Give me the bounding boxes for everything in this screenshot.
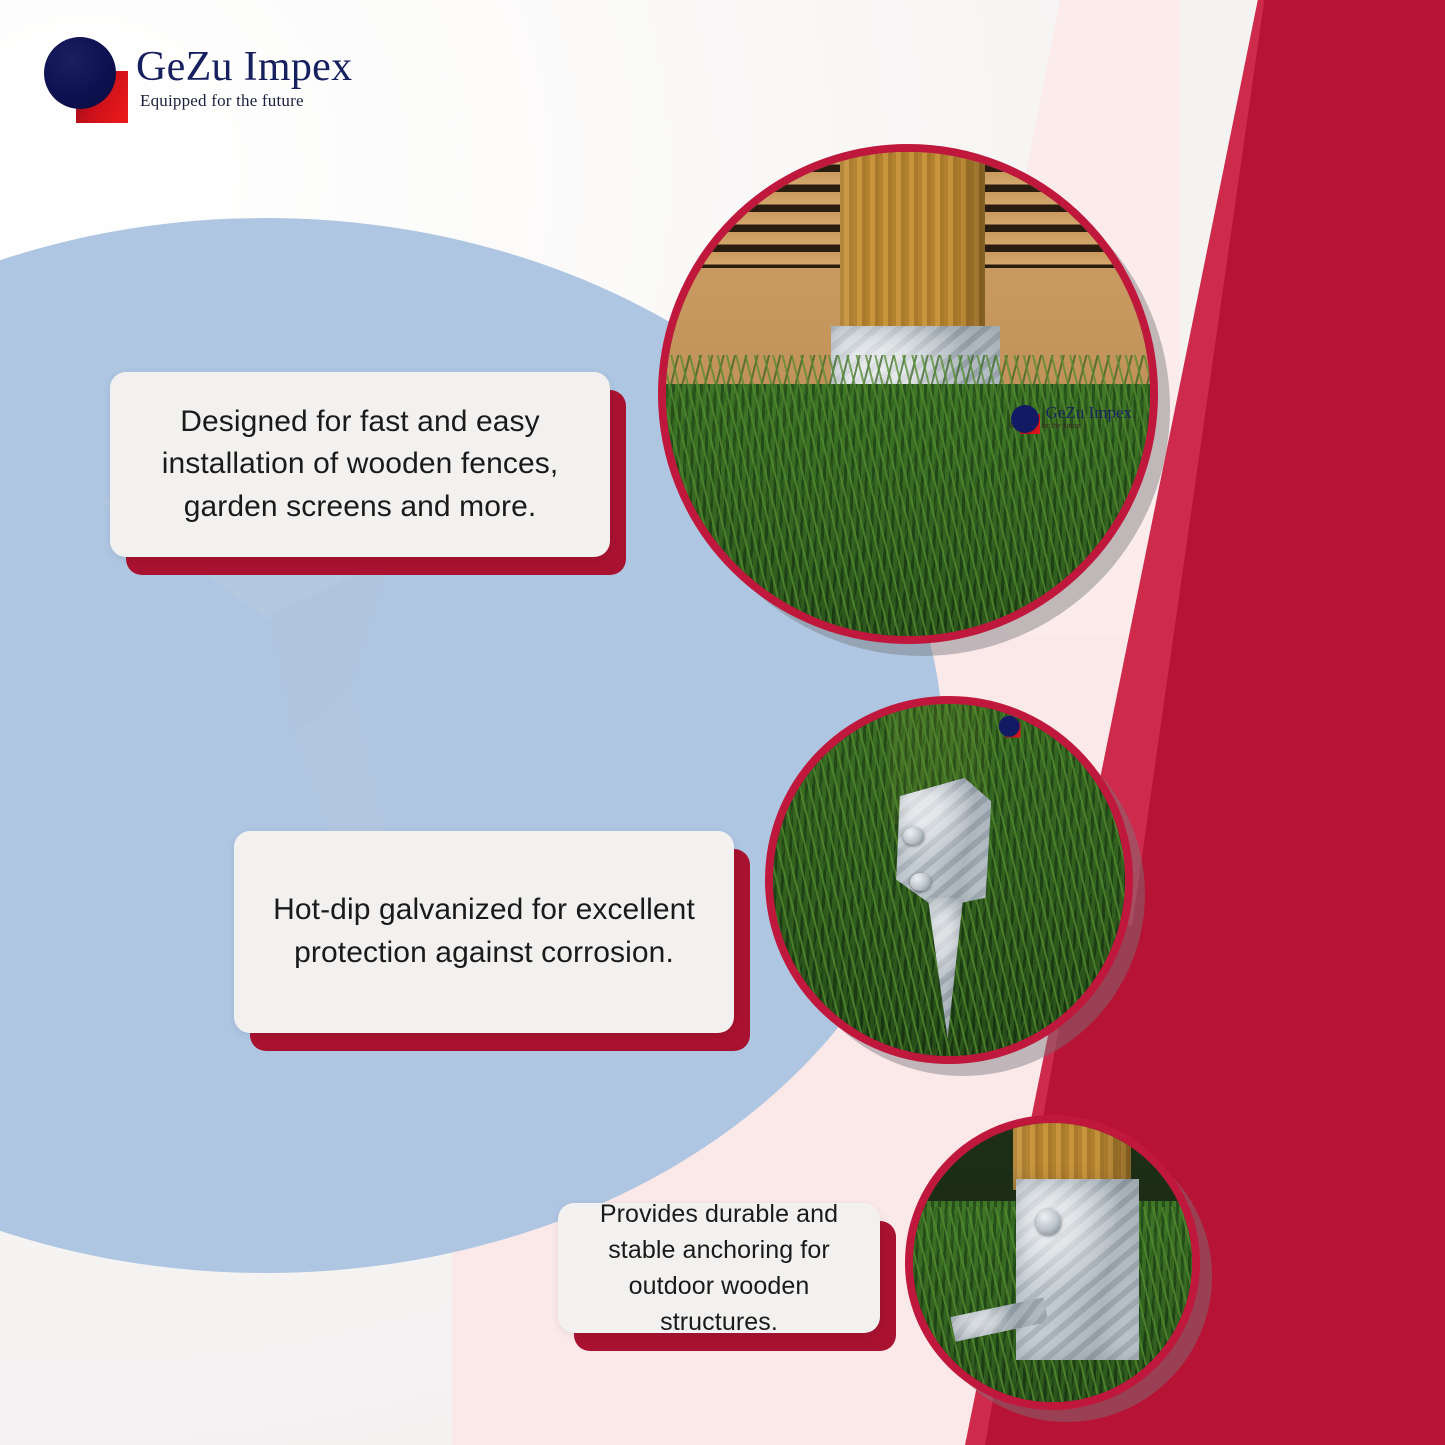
watermark-navy-circle-icon bbox=[1011, 405, 1039, 433]
anchor-bolt bbox=[1036, 1209, 1061, 1234]
watermark-brand-name: GeZu Impex bbox=[1046, 404, 1132, 421]
logo-mark bbox=[30, 27, 130, 127]
product-photo-bottom bbox=[905, 1115, 1200, 1410]
grass-blades bbox=[666, 355, 1150, 636]
brand-name: GeZu Impex bbox=[136, 46, 352, 88]
photo-scene bbox=[773, 704, 1125, 1056]
product-feature-poster: GeZu Impex Equipped for the future Desig… bbox=[0, 0, 1445, 1445]
callout-card-1: Designed for fast and easy installation … bbox=[110, 372, 610, 557]
callout-card-3: Provides durable and stable anchoring fo… bbox=[558, 1203, 880, 1333]
anchor-bolt bbox=[903, 827, 924, 845]
callout-text: Designed for fast and easy installation … bbox=[110, 401, 610, 529]
callout-card-face: Hot-dip galvanized for excellent protect… bbox=[234, 831, 734, 1033]
callout-card-face: Designed for fast and easy installation … bbox=[110, 372, 610, 557]
callout-card-face: Provides durable and stable anchoring fo… bbox=[558, 1203, 880, 1333]
watermark-navy-circle-icon bbox=[999, 715, 1020, 736]
callout-text: Hot-dip galvanized for excellent protect… bbox=[234, 889, 734, 974]
wooden-post bbox=[840, 152, 985, 355]
logo-text-block: GeZu Impex Equipped for the future bbox=[136, 46, 352, 109]
product-photo-middle bbox=[765, 696, 1133, 1064]
photo-watermark-logo: GeZu Impex Equipped for the future bbox=[1010, 404, 1132, 430]
product-photo-top: GeZu Impex Equipped for the future bbox=[658, 144, 1158, 644]
anchor-bolt bbox=[910, 873, 931, 891]
callout-card-2: Hot-dip galvanized for excellent protect… bbox=[234, 831, 734, 1033]
navy-circle-icon bbox=[44, 37, 116, 109]
galvanized-anchor bbox=[1016, 1179, 1139, 1360]
photo-scene: GeZu Impex Equipped for the future bbox=[666, 152, 1150, 636]
photo-scene bbox=[913, 1123, 1192, 1402]
brand-tagline: Equipped for the future bbox=[140, 92, 352, 109]
callout-text: Provides durable and stable anchoring fo… bbox=[558, 1196, 880, 1341]
brand-logo: GeZu Impex Equipped for the future bbox=[30, 22, 390, 132]
